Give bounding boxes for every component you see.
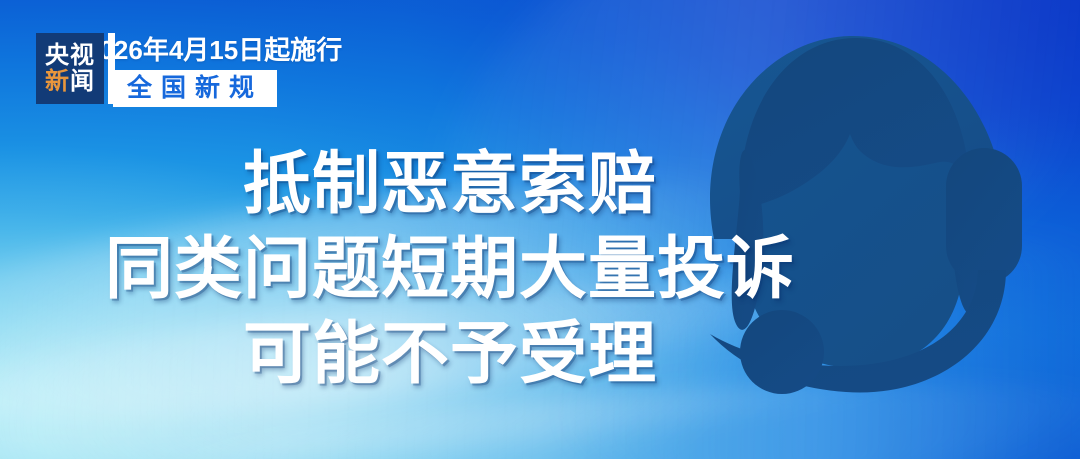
logo-line-yangshi: 央视 — [45, 43, 95, 69]
national-new-rule-banner: 全国新规 — [113, 70, 277, 107]
headline-line-3: 可能不予受理 — [0, 312, 900, 397]
header-text-group: 2026年4月15日起施行 全国新规 — [113, 33, 342, 107]
headline-line-1: 抵制恶意索赔 — [0, 142, 900, 227]
header-divider-bar — [108, 33, 115, 104]
headline-block: 抵制恶意索赔 同类问题短期大量投诉 可能不予受理 — [0, 142, 900, 397]
logo-char-xin: 新 — [45, 68, 70, 95]
logo-line-xinwen: 新闻 — [45, 69, 95, 95]
news-poster: 央视 新闻 2026年4月15日起施行 全国新规 抵制恶意索赔 同类问题短期大量… — [0, 0, 1080, 459]
cctv-news-logo[interactable]: 央视 新闻 — [36, 33, 104, 104]
effective-date-text: 2026年4月15日起施行 — [85, 37, 342, 63]
headline-line-2: 同类问题短期大量投诉 — [0, 227, 900, 312]
logo-char-wen: 闻 — [70, 68, 95, 95]
national-new-rule-label: 全国新规 — [127, 75, 263, 101]
poster-header: 央视 新闻 2026年4月15日起施行 全国新规 — [36, 33, 342, 107]
